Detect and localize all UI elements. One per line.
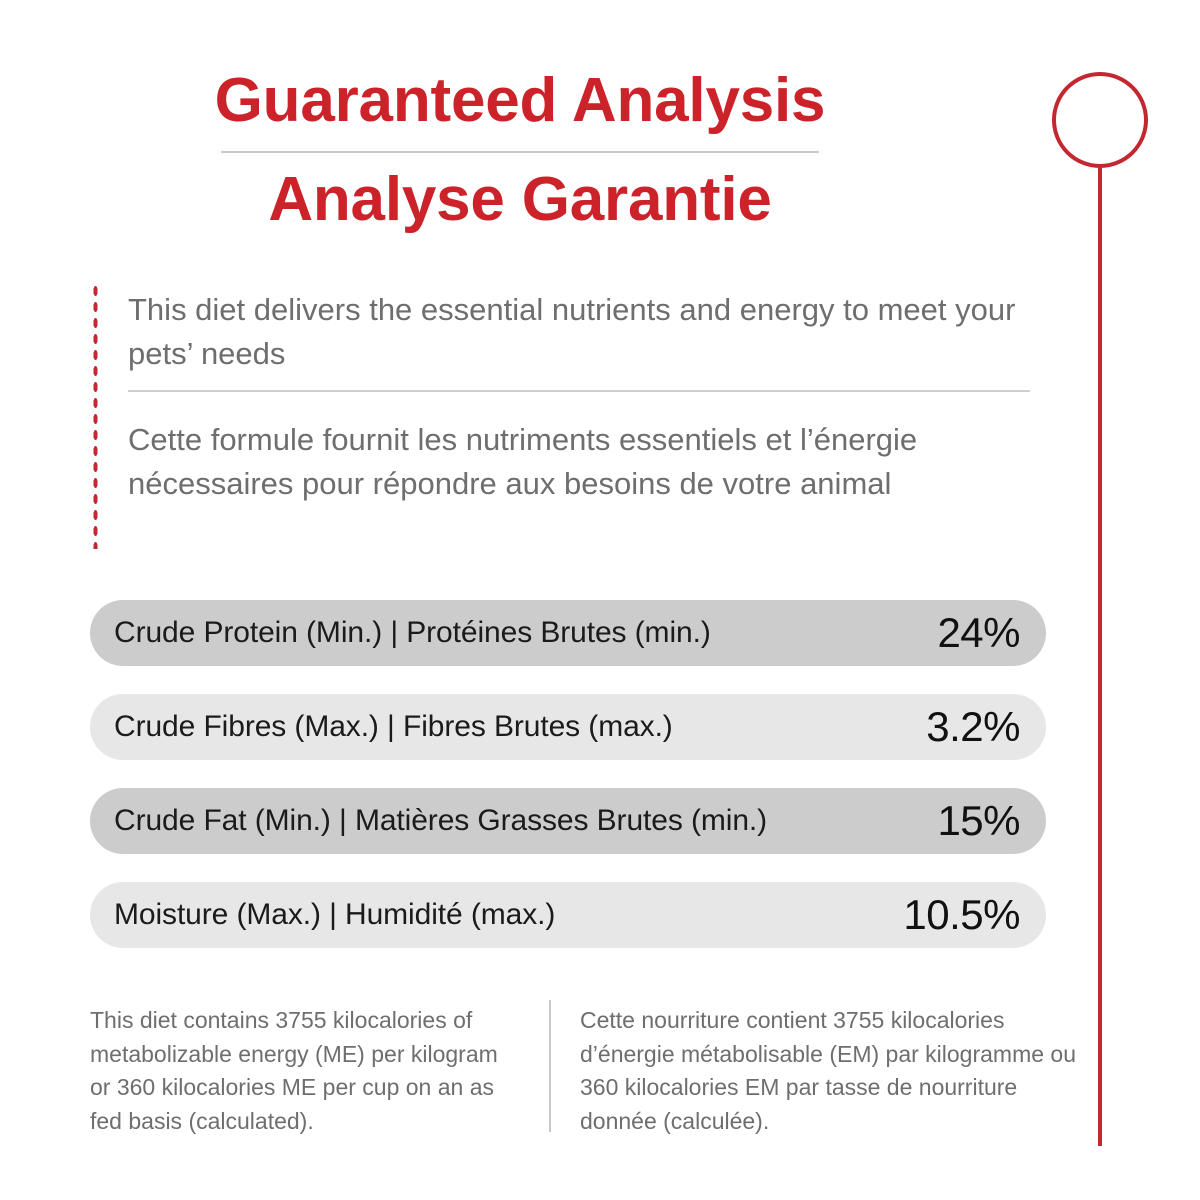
nutrient-value: 3.2% <box>926 706 1020 748</box>
footer: This diet contains 3755 kilocalories of … <box>90 1004 1090 1138</box>
intro-text-en: This diet delivers the essential nutrien… <box>128 288 1036 376</box>
nutrient-label: Crude Fibres (Max.) | Fibres Brutes (max… <box>114 712 926 742</box>
nutrient-label: Moisture (Max.) | Humidité (max.) <box>114 900 903 930</box>
table-row: Crude Fat (Min.) | Matières Grasses Brut… <box>90 788 1046 854</box>
page-title: Guaranteed Analysis Analyse Garantie <box>0 68 1040 232</box>
guaranteed-analysis-panel: Guaranteed Analysis Analyse Garantie Thi… <box>0 0 1200 1200</box>
nutrient-value: 10.5% <box>903 894 1020 936</box>
nutrient-value: 24% <box>937 612 1020 654</box>
table-row: Crude Fibres (Max.) | Fibres Brutes (max… <box>90 694 1046 760</box>
footer-text-en: This diet contains 3755 kilocalories of … <box>90 1004 550 1138</box>
nutrient-value: 15% <box>937 800 1020 842</box>
table-row: Moisture (Max.) | Humidité (max.) 10.5% <box>90 882 1046 948</box>
brand-logo-circle <box>1052 72 1148 168</box>
nutrient-label: Crude Fat (Min.) | Matières Grasses Brut… <box>114 806 937 836</box>
brand-rail <box>1098 168 1102 1146</box>
analysis-table: Crude Protein (Min.) | Protéines Brutes … <box>90 600 1046 976</box>
page-title-en: Guaranteed Analysis <box>0 68 1040 133</box>
footer-text-fr: Cette nourriture contient 3755 kilocalor… <box>550 1004 1090 1138</box>
table-row: Crude Protein (Min.) | Protéines Brutes … <box>90 600 1046 666</box>
nutrient-label: Crude Protein (Min.) | Protéines Brutes … <box>114 618 937 648</box>
page-title-fr: Analyse Garantie <box>0 167 1040 232</box>
title-divider <box>221 151 819 153</box>
intro-text-fr: Cette formule fournit les nutriments ess… <box>128 418 1036 506</box>
dotted-accent-rail <box>92 283 99 549</box>
intro-divider <box>128 390 1030 392</box>
